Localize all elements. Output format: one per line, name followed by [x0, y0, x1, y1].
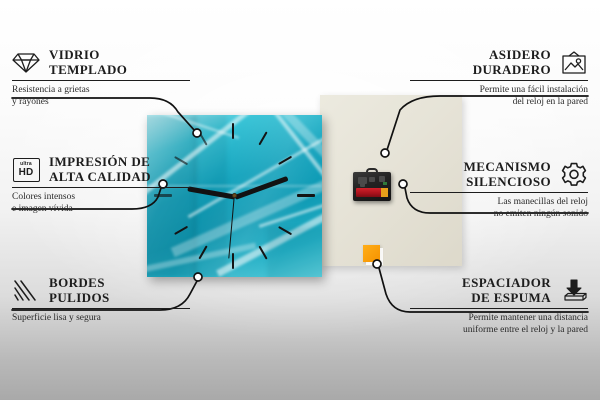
polished-edges-icon [12, 278, 40, 304]
mechanism-detail [360, 183, 365, 187]
feature-title: ASIDERO DURADERO [473, 48, 551, 77]
feature-divider [12, 80, 190, 81]
diamond-icon [12, 50, 40, 76]
feature-mecanismo-silencioso: MECANISMO SILENCIOSO Las manecillas del … [410, 160, 588, 220]
clock-mechanism [353, 168, 391, 201]
feature-divider [12, 187, 190, 188]
feature-title: MECANISMO SILENCIOSO [464, 160, 551, 189]
foam-spacer [363, 245, 380, 262]
feature-title: IMPRESIÓN DE ALTA CALIDAD [49, 155, 151, 184]
feature-title: ESPACIADOR DE ESPUMA [462, 276, 551, 305]
clock-tick [297, 194, 315, 197]
mechanism-led [383, 182, 387, 185]
feature-divider [410, 192, 588, 193]
feature-vidrio-templado: VIDRIO TEMPLADO Resistencia a grietas y … [12, 48, 190, 108]
feature-description: Las manecillas del reloj no emiten ningú… [410, 197, 588, 220]
feature-espaciador-de-espuma: ESPACIADOR DE ESPUMA Permite mantener un… [410, 276, 588, 336]
gear-icon [560, 162, 588, 188]
feature-divider [12, 308, 190, 309]
ultra-hd-icon: ultra HD [12, 157, 40, 183]
ultra-hd-small-label: ultra [20, 162, 32, 167]
ultra-hd-big-label: HD [19, 168, 34, 178]
feature-title: VIDRIO TEMPLADO [49, 48, 127, 77]
feature-divider [410, 308, 588, 309]
feature-bordes-pulidos: BORDES PULIDOS Superficie lisa y segura [12, 276, 190, 325]
picture-hanger-icon [560, 50, 588, 76]
feature-header: MECANISMO SILENCIOSO [410, 160, 588, 189]
feature-description: Superficie lisa y segura [12, 313, 190, 325]
feature-description: Resistencia a grietas y rayones [12, 85, 190, 108]
mechanism-detail [369, 177, 375, 182]
infographic-stage: VIDRIO TEMPLADO Resistencia a grietas y … [0, 0, 600, 400]
feature-title: BORDES PULIDOS [49, 276, 110, 305]
foam-spacer-arrow-icon [560, 278, 588, 304]
feature-header: BORDES PULIDOS [12, 276, 190, 305]
clock-center-cap [232, 193, 237, 198]
feature-header: ultra HD IMPRESIÓN DE ALTA CALIDAD [12, 155, 190, 184]
feature-header: ASIDERO DURADERO [410, 48, 588, 77]
feature-description: Colores intensos e imagen vívida [12, 192, 190, 215]
feature-header: ESPACIADOR DE ESPUMA [410, 276, 588, 305]
feature-divider [410, 80, 588, 81]
feature-impresion-alta-calidad: ultra HD IMPRESIÓN DE ALTA CALIDAD Color… [12, 155, 190, 215]
mechanism-battery-terminal [381, 188, 388, 197]
feature-description: Permite mantener una distancia uniforme … [410, 313, 588, 336]
feature-asidero-duradero: ASIDERO DURADERO Permite una fácil insta… [410, 48, 588, 108]
feature-header: VIDRIO TEMPLADO [12, 48, 190, 77]
feature-description: Permite una fácil instalación del reloj … [410, 85, 588, 108]
